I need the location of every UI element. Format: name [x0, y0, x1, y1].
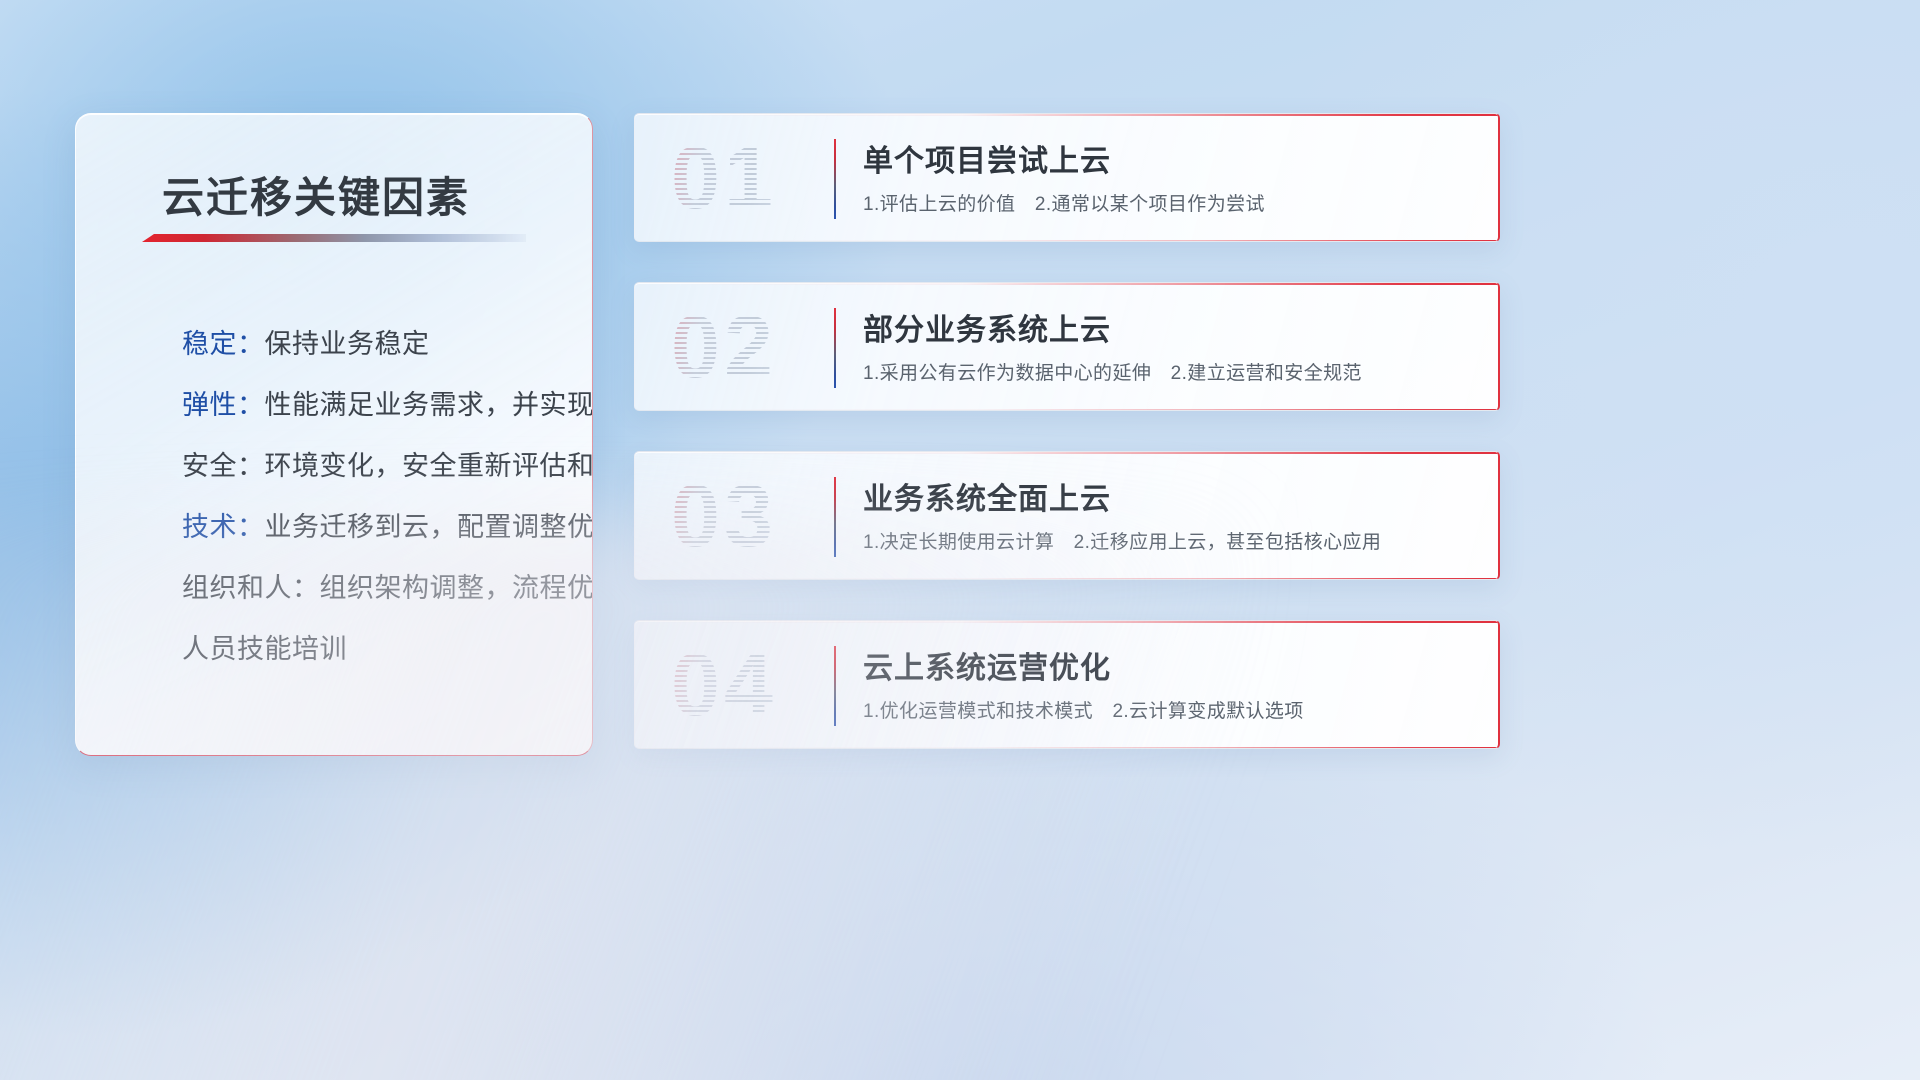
- step-description: 1.评估上云的价值 2.通常以某个项目作为尝试: [863, 189, 1265, 216]
- step-card-04[interactable]: 04 云上系统运营优化 1.优化运营模式和技术模式 2.云计算变成默认选项: [634, 620, 1500, 749]
- list-item: 稳定：保持业务稳定: [76, 314, 592, 375]
- factor-value: 组织架构调整，流程优化，: [320, 573, 594, 603]
- factor-key: 技术：: [182, 512, 265, 542]
- step-card-03[interactable]: 03 业务系统全面上云 1.决定长期使用云计算 2.迁移应用上云，甚至包括核心应…: [634, 451, 1500, 580]
- list-item: 组织和人：组织架构调整，流程优化，: [76, 558, 592, 619]
- step-number: 04: [671, 635, 816, 735]
- factor-value: 保持业务稳定: [265, 329, 430, 359]
- key-factors-panel: 云迁移关键因素 稳定：保持业务稳定 弹性：性能满足业务需求，并实现弹性 安全：环…: [75, 113, 593, 756]
- step-title: 业务系统全面上云: [863, 474, 1111, 518]
- factor-value: 业务迁移到云，配置调整优化: [265, 512, 594, 542]
- step-divider-line: [834, 646, 836, 726]
- step-description: 1.优化运营模式和技术模式 2.云计算变成默认选项: [863, 696, 1304, 723]
- list-item: 技术：业务迁移到云，配置调整优化: [76, 497, 592, 558]
- step-description: 1.决定长期使用云计算 2.迁移应用上云，甚至包括核心应用: [863, 527, 1381, 554]
- factor-value: 环境变化，安全重新评估和评审: [265, 451, 594, 481]
- step-title: 部分业务系统上云: [863, 305, 1111, 349]
- migration-steps-list: 01 单个项目尝试上云 1.评估上云的价值 2.通常以某个项目作为尝试 02 部…: [634, 113, 1500, 789]
- factor-key: 弹性：: [182, 390, 265, 420]
- factor-key: 稳定：: [182, 329, 265, 359]
- key-factors-list: 稳定：保持业务稳定 弹性：性能满足业务需求，并实现弹性 安全：环境变化，安全重新…: [76, 314, 592, 680]
- factor-value: 性能满足业务需求，并实现弹性: [265, 390, 594, 420]
- step-number: 02: [671, 297, 816, 397]
- step-card-02[interactable]: 02 部分业务系统上云 1.采用公有云作为数据中心的延伸 2.建立运营和安全规范: [634, 282, 1500, 411]
- step-divider-line: [834, 139, 836, 219]
- step-title: 云上系统运营优化: [863, 643, 1111, 687]
- step-divider-line: [834, 477, 836, 557]
- factor-key: 组织和人：: [182, 573, 320, 603]
- slide-canvas: 云迁移关键因素 稳定：保持业务稳定 弹性：性能满足业务需求，并实现弹性 安全：环…: [0, 0, 1920, 1080]
- page-title: 云迁移关键因素: [162, 164, 470, 225]
- list-item-continuation: 人员技能培训: [76, 619, 592, 680]
- list-item: 弹性：性能满足业务需求，并实现弹性: [76, 375, 592, 436]
- factor-key: 安全：: [182, 451, 265, 481]
- step-card-01[interactable]: 01 单个项目尝试上云 1.评估上云的价值 2.通常以某个项目作为尝试: [634, 113, 1500, 242]
- step-number: 01: [671, 128, 816, 228]
- title-underline-rule: [142, 234, 526, 242]
- step-description: 1.采用公有云作为数据中心的延伸 2.建立运营和安全规范: [863, 358, 1362, 385]
- step-number: 03: [671, 466, 816, 566]
- step-title: 单个项目尝试上云: [863, 136, 1111, 180]
- step-divider-line: [834, 308, 836, 388]
- list-item: 安全：环境变化，安全重新评估和评审: [76, 436, 592, 497]
